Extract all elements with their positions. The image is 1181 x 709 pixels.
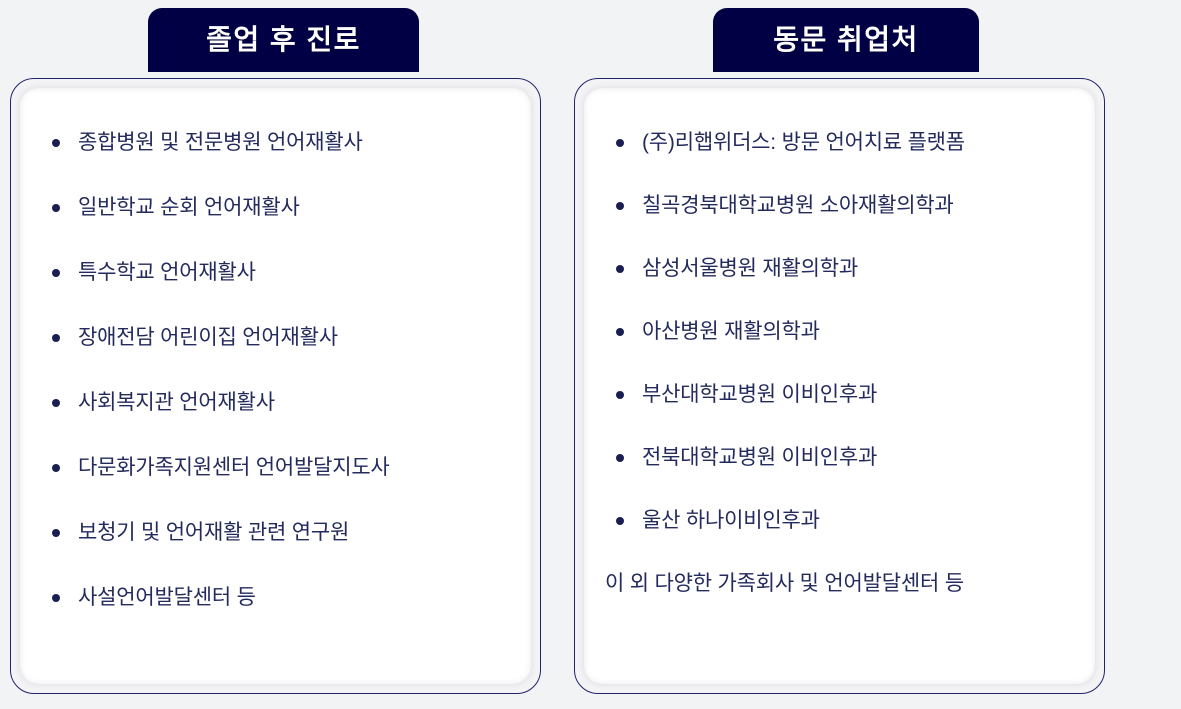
list-item-label: 이 외 다양한 가족회사 및 언어발달센터 등 [605, 572, 964, 595]
list-item-label: 일반학교 순회 언어재활사 [78, 196, 300, 219]
list-item: (주)리햅위더스: 방문 언어치료 플랫폼 [616, 132, 1077, 153]
alumni-employers-list: (주)리햅위더스: 방문 언어치료 플랫폼 칠곡경북대학교병원 소아재활의학과 … [584, 88, 1095, 684]
list-item: 사회복지관 언어재활사 [52, 392, 513, 413]
list-item: 아산병원 재활의학과 [616, 321, 1077, 342]
list-item-label: 칠곡경북대학교병원 소아재활의학과 [642, 194, 954, 217]
bullet-icon [52, 529, 60, 537]
list-item-label: 울산 하나이비인후과 [642, 509, 820, 532]
list-item-label: 특수학교 언어재활사 [78, 261, 256, 284]
list-item-label: (주)리햅위더스: 방문 언어치료 플랫폼 [642, 131, 965, 154]
list-item: 일반학교 순회 언어재활사 [52, 197, 513, 218]
list-item: 보청기 및 언어재활 관련 연구원 [52, 522, 513, 543]
list-item: 장애전담 어린이집 언어재활사 [52, 327, 513, 348]
list-item: 삼성서울병원 재활의학과 [616, 258, 1077, 279]
list-item-label: 사설언어발달센터 등 [78, 586, 256, 609]
bullet-icon [616, 139, 624, 147]
panel-header-alumni-employers: 동문 취업처 [713, 8, 979, 72]
list-item-label: 종합병원 및 전문병원 언어재활사 [78, 131, 363, 154]
list-item-label: 사회복지관 언어재활사 [78, 391, 275, 414]
list-item: 울산 하나이비인후과 [616, 510, 1077, 531]
panel-header-career-paths: 졸업 후 진로 [148, 8, 419, 72]
list-item-label: 전북대학교병원 이비인후과 [642, 446, 877, 469]
bullet-icon [616, 328, 624, 336]
panel-header-title: 졸업 후 진로 [206, 26, 361, 54]
list-item: 다문화가족지원센터 언어발달지도사 [52, 457, 513, 478]
panel-header-title: 동문 취업처 [773, 26, 919, 54]
career-paths-list: 종합병원 및 전문병원 언어재활사 일반학교 순회 언어재활사 특수학교 언어재… [20, 88, 531, 684]
list-item-label: 삼성서울병원 재활의학과 [642, 257, 858, 280]
card-career-paths: 종합병원 및 전문병원 언어재활사 일반학교 순회 언어재활사 특수학교 언어재… [10, 78, 541, 694]
bullet-icon [52, 269, 60, 277]
bullet-icon [52, 204, 60, 212]
infographic-stage: 졸업 후 진로 종합병원 및 전문병원 언어재활사 일반학교 순회 언어재활사 … [0, 0, 1181, 709]
bullet-icon [52, 139, 60, 147]
list-item: 전북대학교병원 이비인후과 [616, 447, 1077, 468]
bullet-icon [616, 265, 624, 273]
list-item-footnote: 이 외 다양한 가족회사 및 언어발달센터 등 [605, 573, 1077, 594]
card-inner-surface: 종합병원 및 전문병원 언어재활사 일반학교 순회 언어재활사 특수학교 언어재… [20, 88, 531, 684]
bullet-icon [616, 391, 624, 399]
bullet-icon [52, 594, 60, 602]
bullet-icon [616, 202, 624, 210]
list-item: 특수학교 언어재활사 [52, 262, 513, 283]
card-alumni-employers: (주)리햅위더스: 방문 언어치료 플랫폼 칠곡경북대학교병원 소아재활의학과 … [574, 78, 1105, 694]
bullet-icon [52, 464, 60, 472]
list-item: 종합병원 및 전문병원 언어재활사 [52, 132, 513, 153]
list-item-label: 보청기 및 언어재활 관련 연구원 [78, 521, 349, 544]
card-inner-surface: (주)리햅위더스: 방문 언어치료 플랫폼 칠곡경북대학교병원 소아재활의학과 … [584, 88, 1095, 684]
list-item: 부산대학교병원 이비인후과 [616, 384, 1077, 405]
list-item-label: 아산병원 재활의학과 [642, 320, 820, 343]
list-item-label: 장애전담 어린이집 언어재활사 [78, 326, 338, 349]
bullet-icon [52, 334, 60, 342]
list-item-label: 부산대학교병원 이비인후과 [642, 383, 877, 406]
bullet-icon [52, 399, 60, 407]
list-item: 사설언어발달센터 등 [52, 587, 513, 608]
bullet-icon [616, 454, 624, 462]
list-item: 칠곡경북대학교병원 소아재활의학과 [616, 195, 1077, 216]
list-item-label: 다문화가족지원센터 언어발달지도사 [78, 456, 390, 479]
bullet-icon [616, 517, 624, 525]
